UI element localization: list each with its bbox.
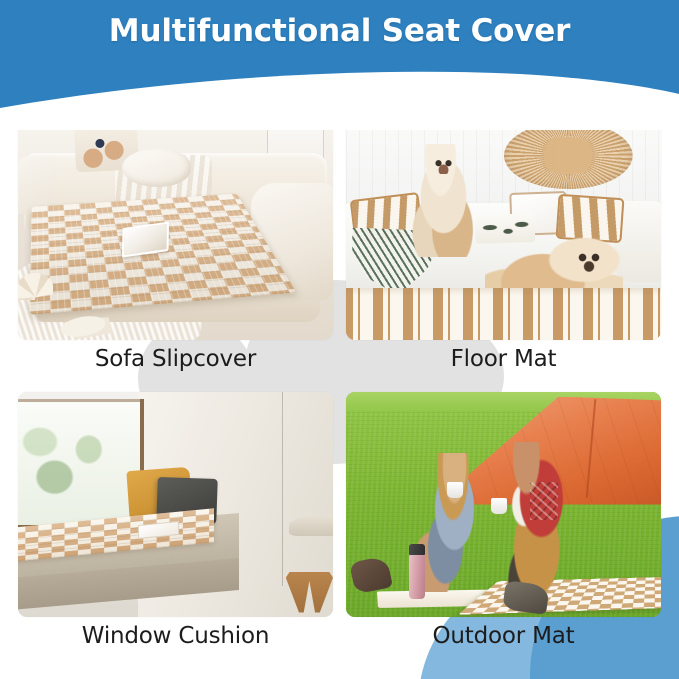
photo-sofa-slipcover-art	[18, 115, 333, 340]
photo-outdoor-mat-art	[346, 392, 661, 617]
panel-label-window-cushion: Window Cushion	[18, 623, 333, 649]
panel-label-outdoor-mat: Outdoor Mat	[346, 623, 661, 649]
panel-floor-mat[interactable]: Floor Mat	[346, 115, 661, 392]
panel-sofa-slipcover[interactable]: Sofa Slipcover	[18, 115, 333, 392]
panel-grid: Sofa Slipcover	[18, 115, 661, 669]
panel-row-top: Sofa Slipcover	[18, 115, 661, 392]
panel-label-floor-mat: Floor Mat	[346, 346, 661, 372]
panel-window-cushion[interactable]: Window Cushion	[18, 392, 333, 669]
panel-outdoor-mat[interactable]: Outdoor Mat	[346, 392, 661, 669]
photo-floor-mat-art	[346, 115, 661, 340]
panel-label-sofa-slipcover: Sofa Slipcover	[18, 346, 333, 372]
header-banner: Multifunctional Seat Cover	[0, 0, 679, 130]
photo-window-cushion-art	[18, 392, 333, 617]
page-title: Multifunctional Seat Cover	[0, 13, 679, 49]
photo-floor-mat	[346, 115, 661, 340]
panel-row-bottom: Window Cushion	[18, 392, 661, 669]
photo-sofa-slipcover	[18, 115, 333, 340]
photo-window-cushion	[18, 392, 333, 617]
photo-outdoor-mat	[346, 392, 661, 617]
product-infographic: Multifunctional Seat Cover	[0, 0, 679, 679]
